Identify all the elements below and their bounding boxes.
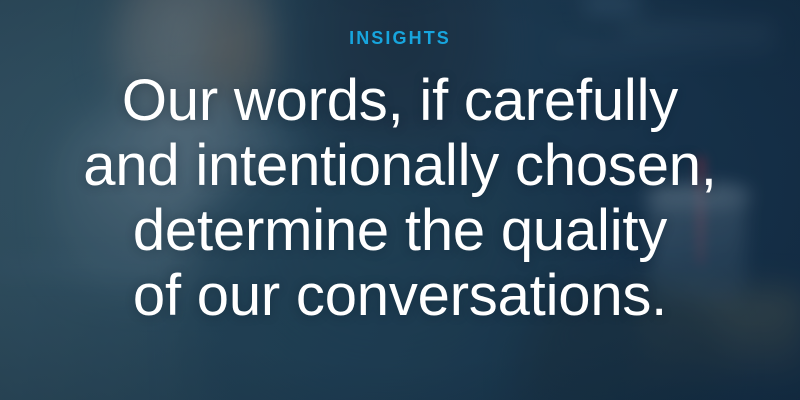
headline-line-4: of our conversations. [83,263,716,328]
headline-line-3: determine the quality [83,198,716,263]
headline-line-2: and intentionally chosen, [83,133,716,198]
insights-quote-card: INSIGHTS Our words, if carefully and int… [0,0,800,400]
eyebrow-label: INSIGHTS [349,27,451,49]
headline-line-1: Our words, if carefully [83,68,716,133]
headline-quote: Our words, if carefully and intentionall… [83,68,716,328]
card-content: INSIGHTS Our words, if carefully and int… [0,0,800,400]
